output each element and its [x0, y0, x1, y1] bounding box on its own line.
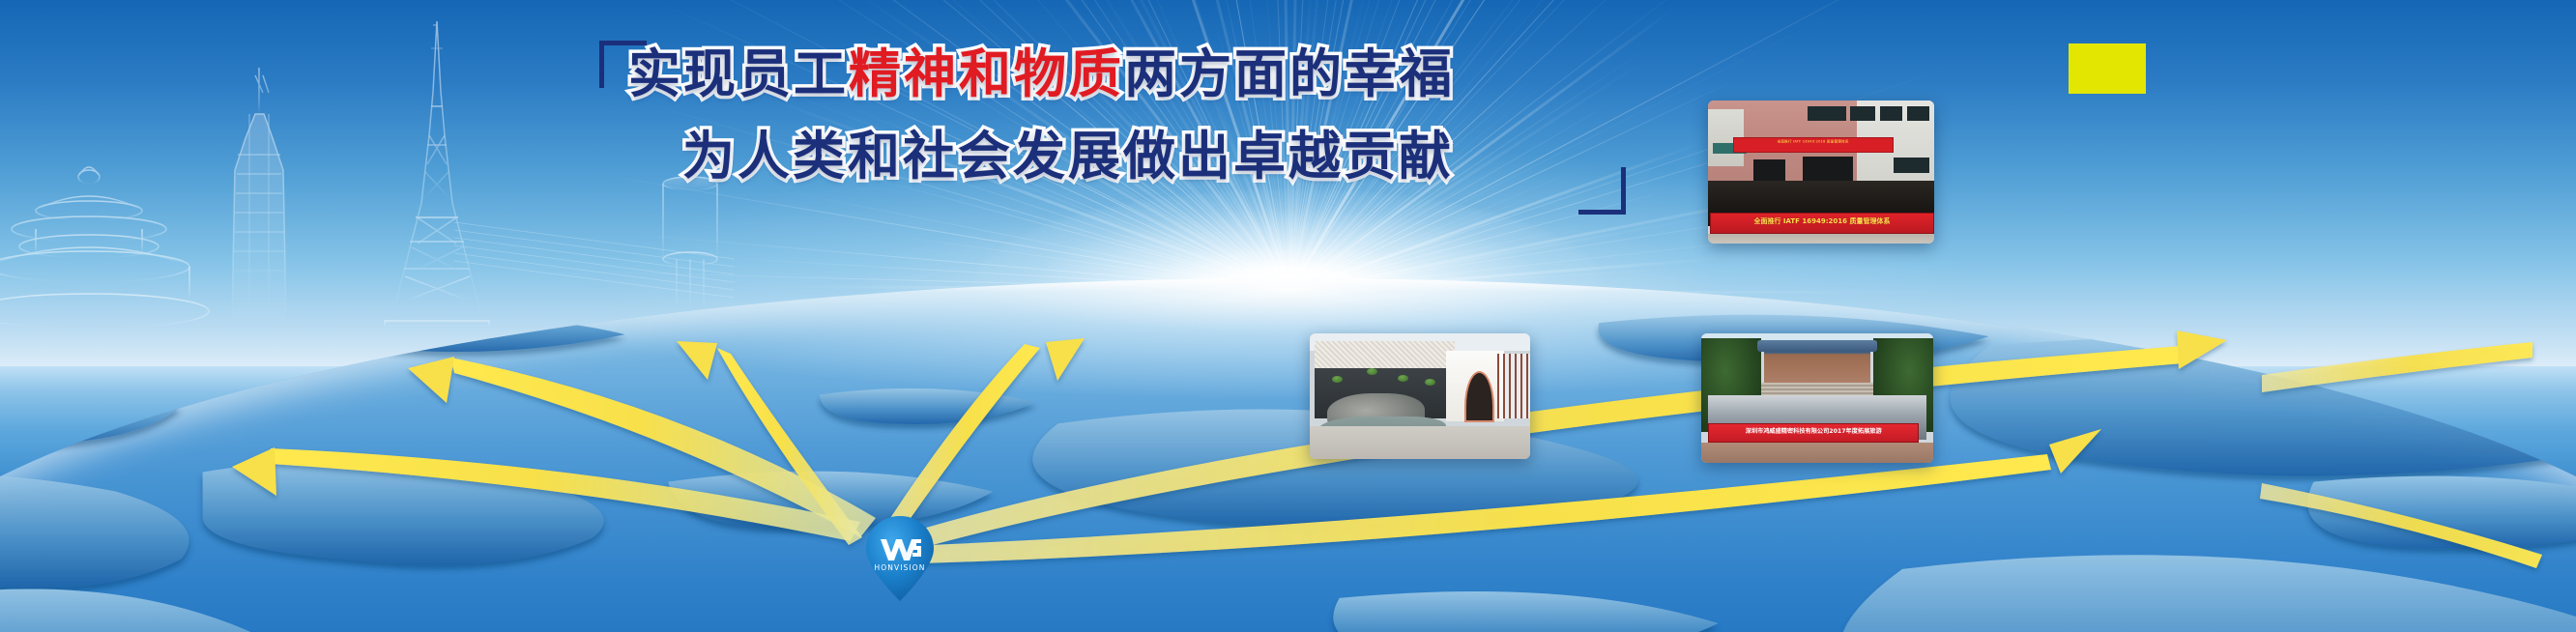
- photo1-bottom-banner: 全面推行 IATF 16949:2016 质量管理体系: [1710, 213, 1933, 233]
- company-culture-banner: HONVISION 全面推行 IATF 16949:2016 质量管理体系 全面…: [0, 0, 2576, 632]
- headline-line1-part2: 两方面的幸福: [1124, 43, 1455, 104]
- photo1-top-banner: 全面推行 IATF 16949:2016 质量管理体系: [1733, 137, 1894, 152]
- headline-line-1: 实现员工精神和物质两方面的幸福: [628, 41, 1614, 107]
- headline-line1-part1: 实现员工: [628, 43, 849, 104]
- continents: [0, 278, 2576, 632]
- photo-courtyard-garden[interactable]: [1310, 333, 1530, 459]
- location-pin-logo: HONVISION: [857, 510, 942, 607]
- photo1-top-banner-text: 全面推行 IATF 16949:2016 质量管理体系: [1734, 140, 1893, 144]
- headline-line1-highlight: 精神和物质: [849, 43, 1124, 104]
- photo3-bottom-banner: 深圳市鸿威盛精密科技有限公司2017年度拓展旅游: [1708, 423, 1919, 442]
- bracket-bottom-right: [1578, 167, 1626, 215]
- headline-block: 实现员工精神和物质两方面的幸福 为人类和社会发展做出卓越贡献: [599, 41, 1614, 189]
- photo3-bottom-banner-text: 深圳市鸿威盛精密科技有限公司2017年度拓展旅游: [1709, 429, 1918, 435]
- headline-line-2: 为人类和社会发展做出卓越贡献: [682, 123, 1614, 189]
- yellow-accent-rectangle: [2069, 43, 2146, 94]
- photo-company-outing-group[interactable]: 深圳市鸿威盛精密科技有限公司2017年度拓展旅游: [1701, 333, 1933, 463]
- globe: [0, 278, 2576, 632]
- pin-wordmark: HONVISION: [875, 563, 926, 572]
- photo1-bottom-banner-text: 全面推行 IATF 16949:2016 质量管理体系: [1711, 218, 1932, 225]
- photo-iatf-certification-group[interactable]: 全面推行 IATF 16949:2016 质量管理体系 全面推行 IATF 16…: [1708, 101, 1934, 244]
- bracket-top-left: [599, 41, 647, 88]
